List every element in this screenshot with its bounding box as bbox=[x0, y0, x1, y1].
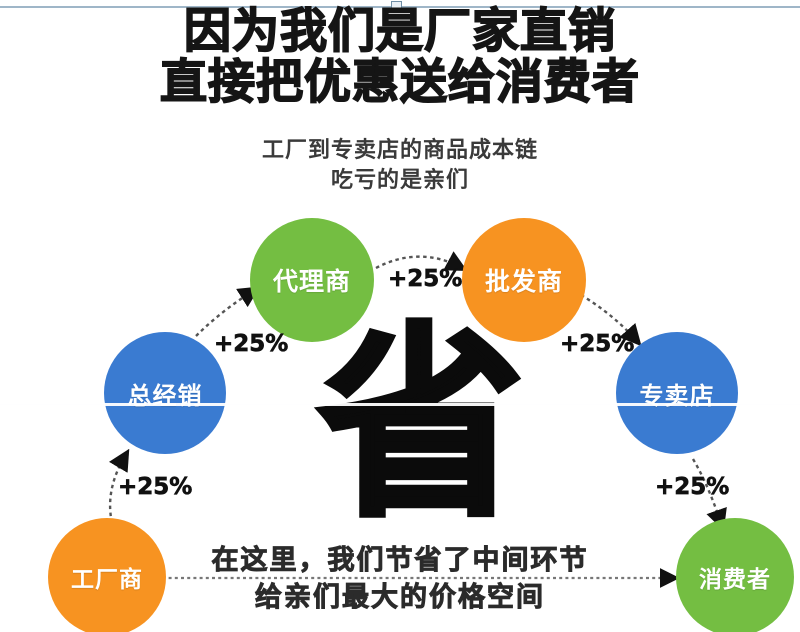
node-wholesale[interactable]: 批发商 bbox=[462, 218, 586, 342]
markup-store-consumer: +25% bbox=[655, 474, 729, 500]
markup-wholesale-store: +25% bbox=[560, 331, 634, 357]
overlay-guide-line bbox=[0, 403, 800, 406]
bottom-slogan: 在这里，我们节省了中间环节 给亲们最大的价格空间 bbox=[0, 542, 800, 617]
slogan-line-1: 在这里，我们节省了中间环节 bbox=[0, 542, 800, 579]
node-agent[interactable]: 代理商 bbox=[250, 218, 374, 342]
node-wholesale-label: 批发商 bbox=[485, 262, 563, 298]
slogan-line-2: 给亲们最大的价格空间 bbox=[0, 579, 800, 616]
node-distributor[interactable]: 总经销 bbox=[104, 332, 226, 454]
arrow-distributor-agent bbox=[196, 291, 253, 336]
poster-canvas: 因为我们是厂家直销 直接把优惠送给消费者 工厂到专卖店的商品成本链 吃亏的是亲们 bbox=[0, 0, 800, 632]
node-agent-label: 代理商 bbox=[273, 262, 351, 298]
markup-distributor-agent: +25% bbox=[214, 331, 288, 357]
markup-agent-wholesale: +25% bbox=[388, 266, 462, 292]
markup-factory-distributor: +25% bbox=[118, 474, 192, 500]
